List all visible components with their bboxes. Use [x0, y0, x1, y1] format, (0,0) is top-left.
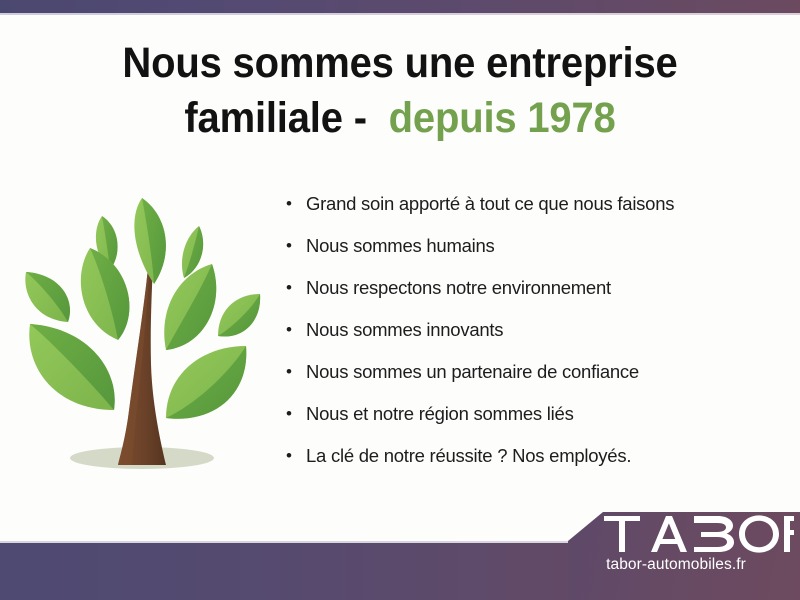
list-item-label: Nous sommes humains [306, 234, 495, 258]
title-accent-year [367, 94, 389, 142]
list-item: • Nous sommes humains [286, 234, 776, 276]
bullet-icon: • [286, 318, 306, 342]
leaf-lower-left [29, 324, 114, 410]
top-accent-band [0, 0, 800, 13]
leaf-right [218, 294, 260, 337]
leaf-upper-left [81, 248, 130, 340]
bullet-list: • Grand soin apporté à tout ce que nous … [286, 192, 776, 486]
leaf-lower-right [166, 346, 246, 419]
slide-canvas: Nous sommes une entreprise familiale - d… [0, 0, 800, 600]
list-item: • Nous et notre région sommes liés [286, 402, 776, 444]
leaf-top-center [134, 198, 166, 284]
list-item-label: Nous respectons notre environnement [306, 276, 611, 300]
leaf-left [25, 272, 70, 322]
title-line-1: Nous sommes une entreprise [28, 36, 772, 91]
brand-logo[interactable]: tabor-automobiles.fr [560, 508, 800, 600]
bullet-icon: • [286, 234, 306, 258]
list-item: • Nous sommes innovants [286, 318, 776, 360]
leaf-upper-right [164, 264, 216, 350]
title-line-2: familiale - depuis 1978 [28, 91, 772, 146]
list-item-label: Nous sommes innovants [306, 318, 503, 342]
title-line-2-plain: familiale - [184, 94, 366, 142]
list-item-label: Nous et notre région sommes liés [306, 402, 574, 426]
list-item: • La clé de notre réussite ? Nos employé… [286, 444, 776, 486]
bullet-icon: • [286, 444, 306, 468]
list-item: • Nous sommes un partenaire de confiance [286, 360, 776, 402]
bullet-icon: • [286, 276, 306, 300]
tree-illustration [18, 188, 270, 488]
bullet-icon: • [286, 402, 306, 426]
list-item-label: La clé de notre réussite ? Nos employés. [306, 444, 631, 468]
list-item-label: Nous sommes un partenaire de confiance [306, 360, 639, 384]
bullet-icon: • [286, 192, 306, 216]
page-title: Nous sommes une entreprise familiale - d… [0, 36, 800, 146]
list-item-label: Grand soin apporté à tout ce que nous fa… [306, 192, 674, 216]
title-accent-text: depuis 1978 [389, 94, 616, 142]
bullet-icon: • [286, 360, 306, 384]
tabor-wordmark-icon [604, 514, 794, 554]
logo-url-text[interactable]: tabor-automobiles.fr [560, 556, 800, 574]
list-item: • Grand soin apporté à tout ce que nous … [286, 192, 776, 234]
top-band-hairline [0, 13, 800, 15]
list-item: • Nous respectons notre environnement [286, 276, 776, 318]
